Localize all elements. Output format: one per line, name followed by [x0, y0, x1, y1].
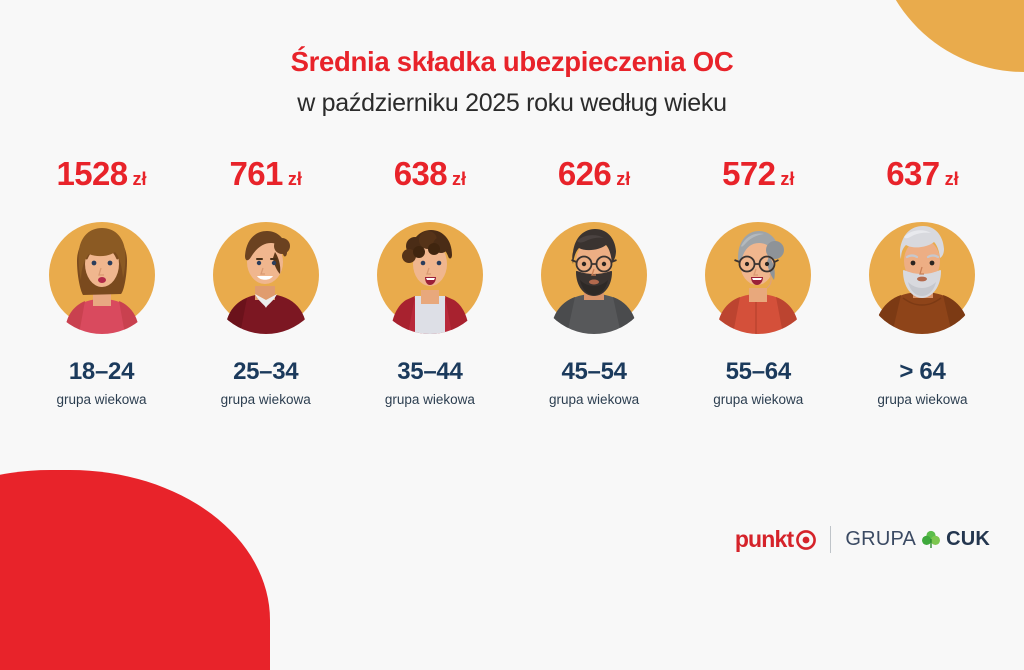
premium-value: 1528 [56, 155, 127, 193]
premium-amount: 638 zł [394, 155, 466, 201]
page-subtitle: w październiku 2025 roku według wieku [0, 89, 1024, 118]
age-group-item: 637 zł [845, 155, 1000, 407]
punkt-logo[interactable]: punkt [735, 526, 817, 553]
premium-amount: 761 zł [230, 155, 302, 201]
age-caption-label: grupa wiekowa [56, 392, 146, 407]
age-group-item: 572 zł [681, 155, 836, 407]
punkt-target-icon [796, 530, 816, 550]
premium-value: 638 [394, 155, 447, 193]
premium-value: 626 [558, 155, 611, 193]
avatar-bearded-man-glasses [535, 216, 653, 334]
age-range-label: 35–44 [397, 358, 462, 386]
age-caption-label: grupa wiekowa [549, 392, 639, 407]
premium-currency: zł [133, 169, 147, 190]
avatar-senior-man-beard [863, 216, 981, 334]
age-range-label: 25–34 [233, 358, 298, 386]
premium-currency: zł [288, 169, 302, 190]
age-range-label: 55–64 [726, 358, 791, 386]
page-title: Średnia składka ubezpieczenia OC [0, 46, 1024, 78]
age-group-item: 626 zł [517, 155, 672, 407]
age-range-label: > 64 [899, 358, 945, 386]
age-group-list: 1528 zł [24, 155, 1000, 407]
age-caption-label: grupa wiekowa [713, 392, 803, 407]
punkt-logo-text: punkt [735, 526, 794, 553]
age-group-item: 1528 zł [24, 155, 179, 407]
premium-currency: zł [616, 169, 630, 190]
logo-divider [830, 526, 831, 553]
premium-value: 761 [230, 155, 283, 193]
age-group-item: 638 zł [352, 155, 507, 407]
avatar-young-woman-long-hair [43, 216, 161, 334]
age-range-label: 45–54 [561, 358, 626, 386]
footer-logos: punkt GRUPA CUK [735, 526, 990, 553]
premium-value: 637 [886, 155, 939, 193]
avatar-woman-curly-hair-jacket [371, 216, 489, 334]
avatar-senior-woman-glasses [699, 216, 817, 334]
age-group-item: 761 zł [188, 155, 343, 407]
premium-currency: zł [452, 169, 466, 190]
premium-currency: zł [945, 169, 959, 190]
header: Średnia składka ubezpieczenia OC w paźdz… [0, 46, 1024, 117]
clover-leaf-icon [920, 529, 942, 551]
avatar-man-hair-bun [207, 216, 325, 334]
age-range-label: 18–24 [69, 358, 134, 386]
grupa-cuk-logo[interactable]: GRUPA CUK [845, 528, 990, 551]
premium-amount: 1528 zł [56, 155, 146, 201]
corner-decoration-bottom-left [0, 470, 270, 670]
grupa-logo-text: GRUPA [845, 528, 916, 551]
premium-amount: 637 zł [886, 155, 958, 201]
age-caption-label: grupa wiekowa [221, 392, 311, 407]
age-caption-label: grupa wiekowa [385, 392, 475, 407]
premium-amount: 626 zł [558, 155, 630, 201]
premium-currency: zł [780, 169, 794, 190]
premium-value: 572 [722, 155, 775, 193]
premium-amount: 572 zł [722, 155, 794, 201]
age-caption-label: grupa wiekowa [877, 392, 967, 407]
cuk-logo-text: CUK [946, 528, 990, 551]
